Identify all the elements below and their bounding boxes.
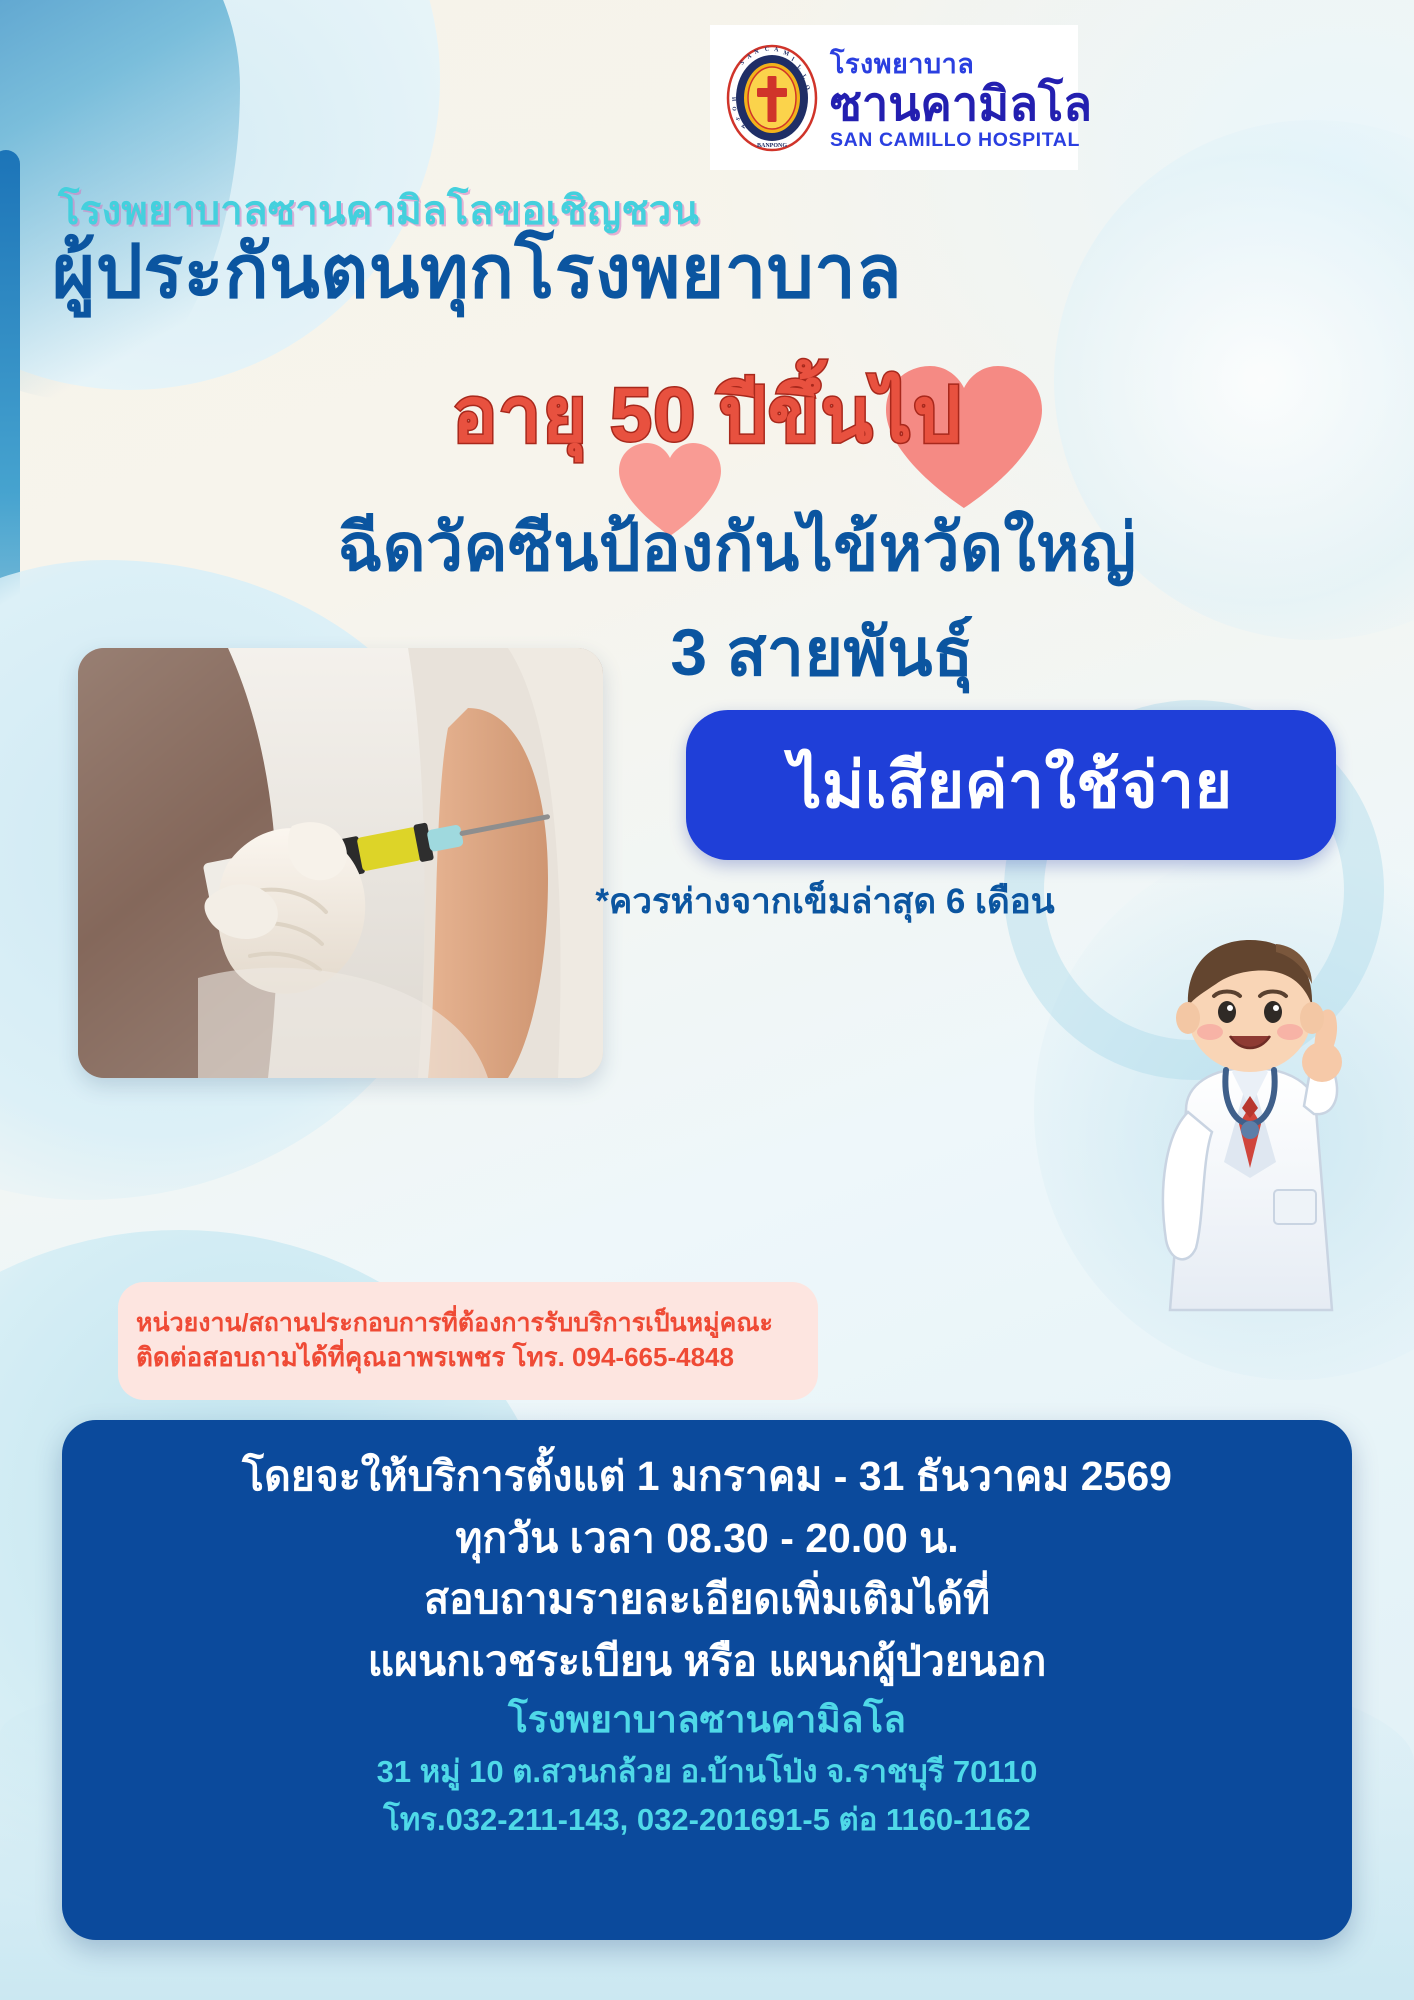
hospital-name: โรงพยาบาลซานคามิลโล [62,1692,1352,1748]
svg-text:BANPONG: BANPONG [757,143,787,149]
free-of-charge-label: ไม่เสียค่าใช้จ่าย [789,734,1232,836]
hospital-address: 31 หมู่ 10 ต.สวนกล้วย อ.บ้านโป่ง จ.ราชบุ… [62,1748,1352,1796]
interval-note: *ควรห่างจากเข็มล่าสุด 6 เดือน [560,874,1090,929]
free-of-charge-badge: ไม่เสียค่าใช้จ่าย [686,710,1336,860]
more-info-label: สอบถามรายละเอียดเพิ่มเติมได้ที่ [62,1569,1352,1631]
svg-text:C: C [765,46,770,52]
group-booking-line1: หน่วยงาน/สถานประกอบการที่ต้องการรับบริกา… [136,1307,800,1341]
logo-wordmark: โรงพยาบาล ซานคามิลโล SAN CAMILLO HOSPITA… [830,45,1092,151]
main-headline: ผู้ประกันตนทุกโรงพยาบาล [52,233,902,311]
hospital-seal-icon: S A N C A M I L L O H O S P BANPONG [724,43,820,153]
poster-canvas: S A N C A M I L L O H O S P BANPONG [0,0,1414,2000]
hospital-telephone: โทร.032-211-143, 032-201691-5 ต่อ 1160-1… [62,1796,1352,1844]
logo-thai-big: ซานคามิลโล [830,80,1092,127]
group-booking-contact: หน่วยงาน/สถานประกอบการที่ต้องการรับบริกา… [118,1282,818,1400]
service-period: โดยจะให้บริการตั้งแต่ 1 มกราคม - 31 ธันว… [62,1446,1352,1508]
vaccination-photo [78,648,603,1078]
logo-thai-small: โรงพยาบาล [830,51,1092,78]
service-info-box: โดยจะให้บริการตั้งแต่ 1 มกราคม - 31 ธันว… [62,1420,1352,1940]
departments-label: แผนกเวชระเบียน หรือ แผนกผู้ป่วยนอก [62,1631,1352,1693]
doctor-mascot-icon [1126,910,1376,1330]
logo-english: SAN CAMILLO HOSPITAL [830,131,1092,151]
age-requirement-headline: อายุ 50 ปีขึ้นไป [0,355,1414,475]
service-hours: ทุกวัน เวลา 08.30 - 20.00 น. [62,1508,1352,1570]
group-booking-line2: ติดต่อสอบถามได้ที่คุณอาพรเพชร โทร. 094-6… [136,1340,800,1375]
vaccine-headline: ฉีดวัคซีนป้องกันไข้หวัดใหญ่ [0,495,1414,600]
hospital-logo-card: S A N C A M I L L O H O S P BANPONG [710,25,1078,170]
